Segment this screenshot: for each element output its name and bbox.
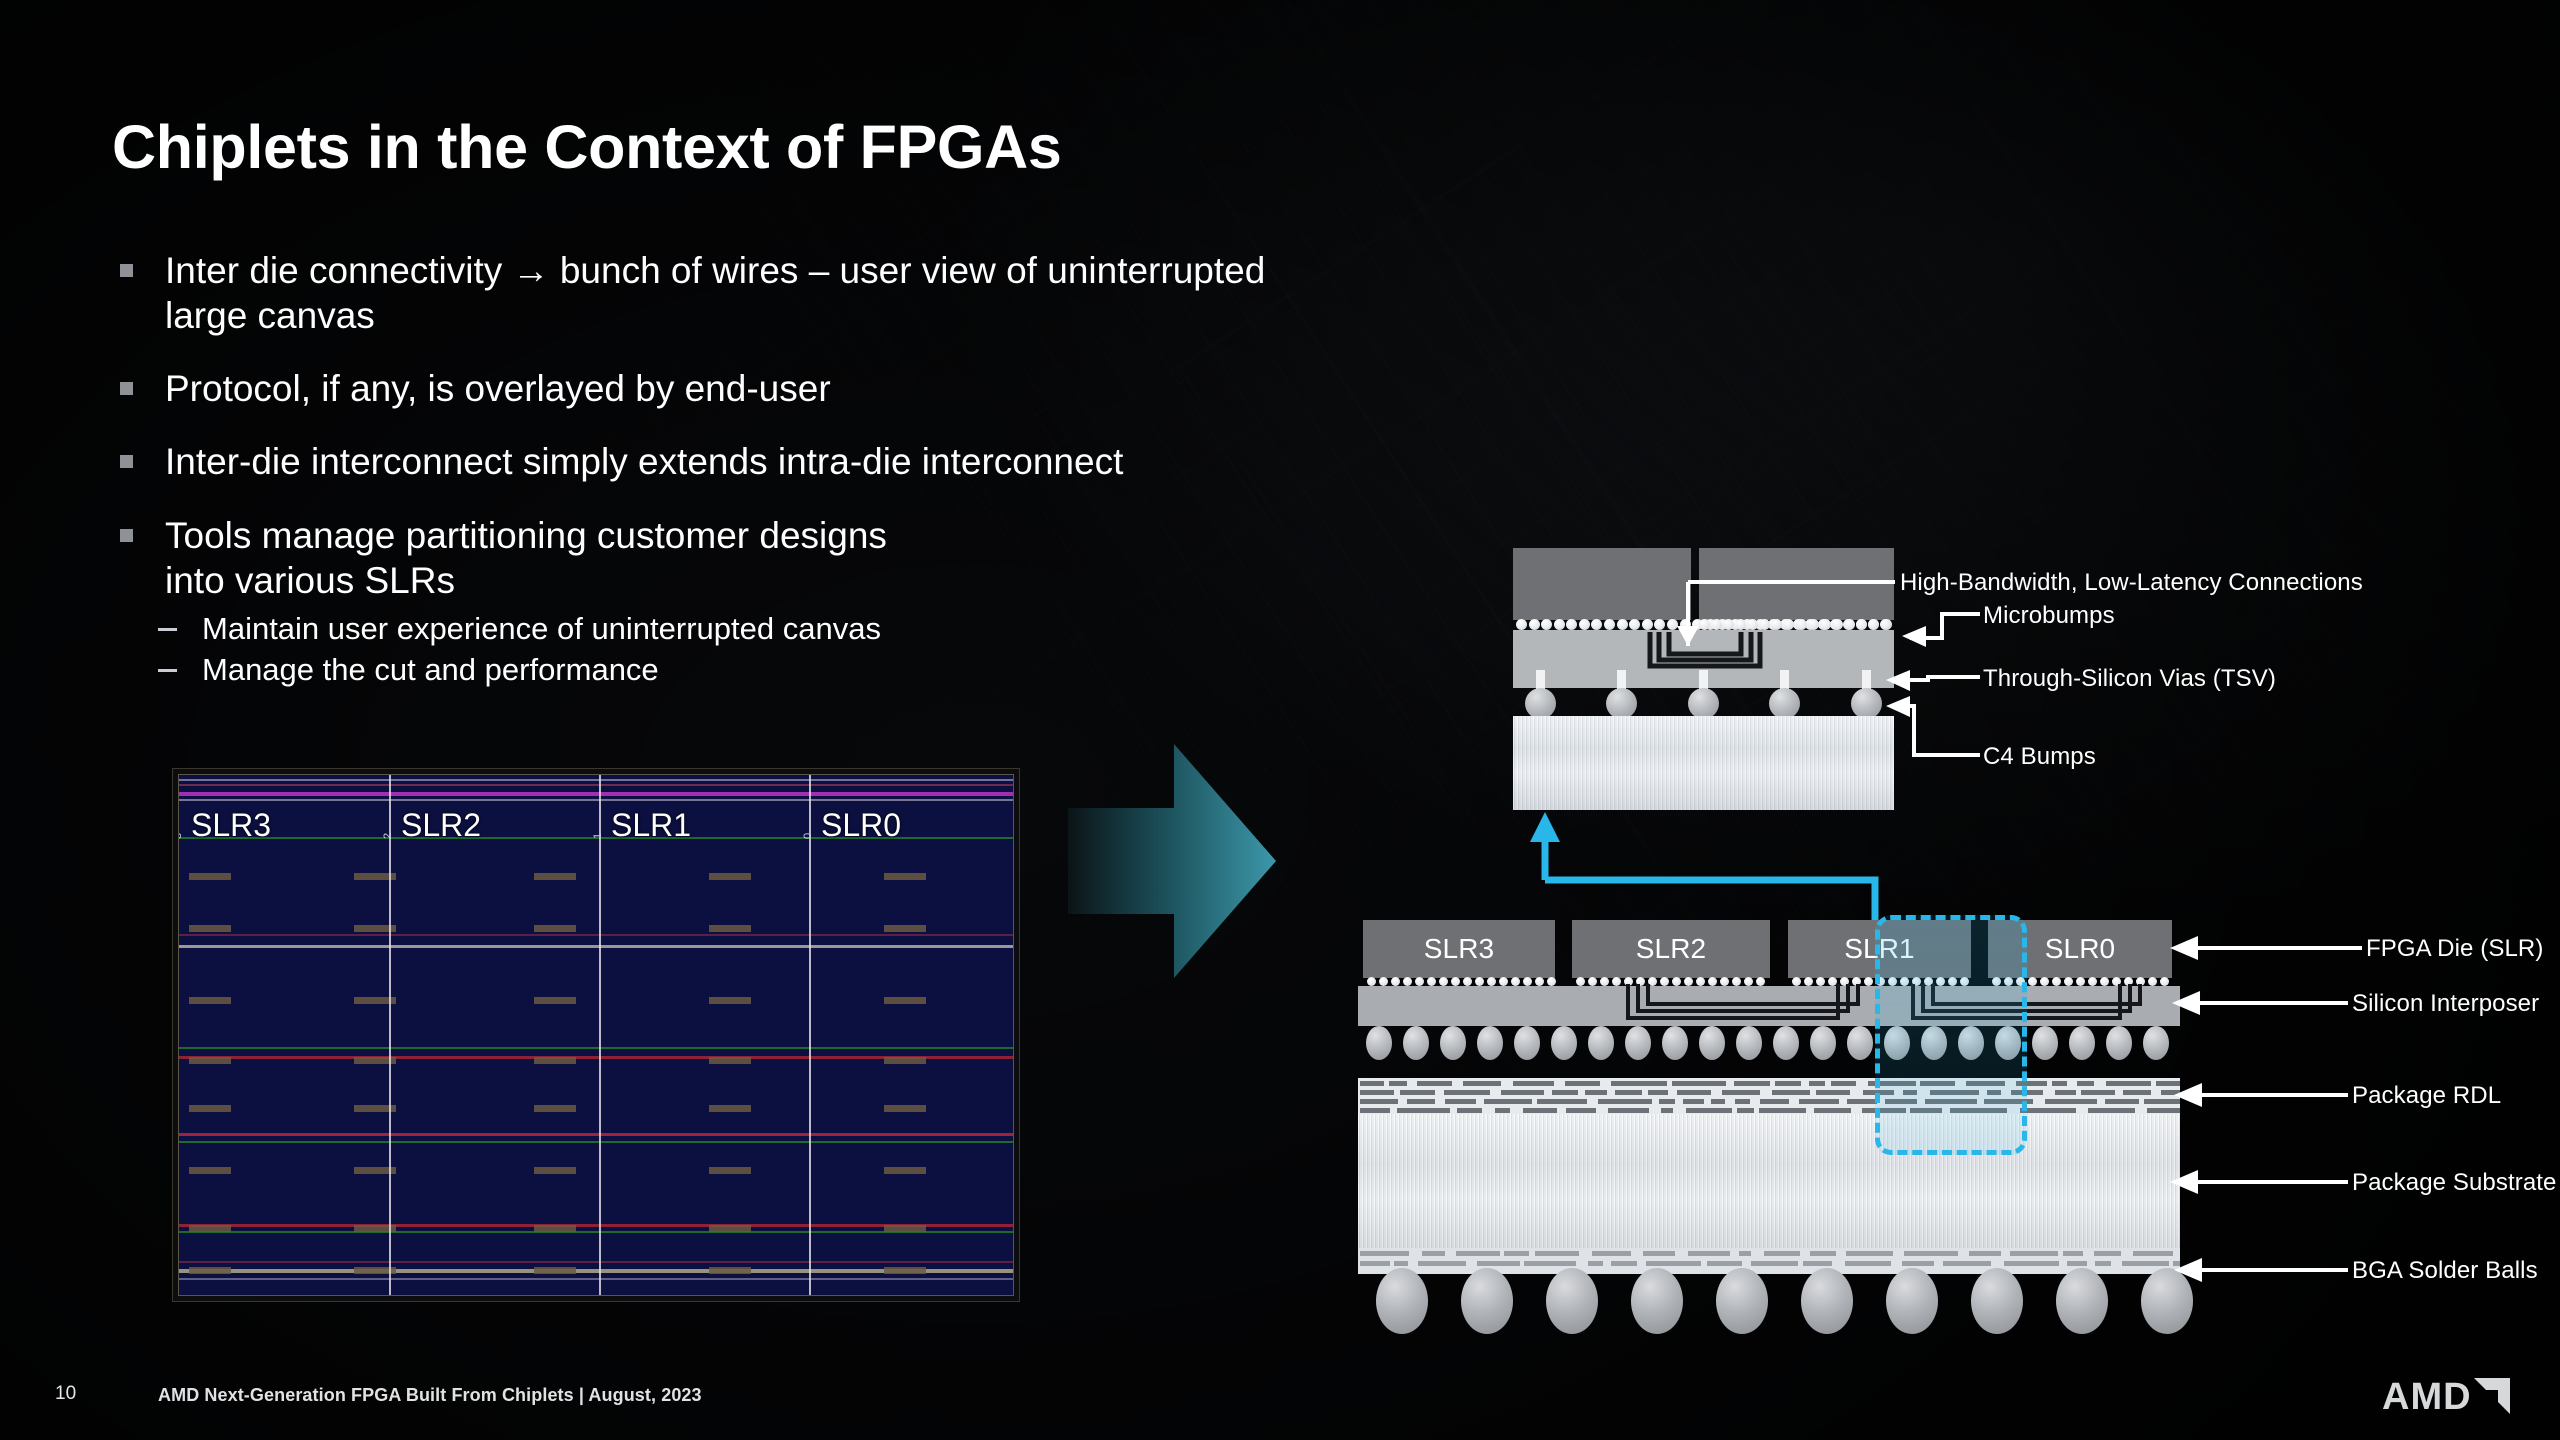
floorplan-resource-block bbox=[884, 925, 926, 932]
floorplan-band bbox=[179, 799, 1013, 801]
arrowhead bbox=[2170, 936, 2198, 960]
bullet-square-icon bbox=[120, 382, 133, 395]
floorplan-resource-block bbox=[534, 1105, 576, 1112]
floorplan-resource-block bbox=[534, 1267, 576, 1274]
floorplan-resource-block bbox=[534, 997, 576, 1004]
floorplan-resource-block bbox=[189, 1225, 231, 1232]
floorplan-band bbox=[179, 1133, 1013, 1136]
dash-icon bbox=[158, 669, 177, 672]
sub-bullet-item-1: Maintain user experience of uninterrupte… bbox=[110, 609, 1350, 649]
floorplan-resource-block bbox=[709, 873, 751, 880]
floorplan-band bbox=[179, 792, 1013, 796]
floorplan-resource-block bbox=[709, 997, 751, 1004]
floorplan-resource-block bbox=[709, 1267, 751, 1274]
floorplan-resource-block bbox=[189, 997, 231, 1004]
package-cross-section-diagram: High-Bandwidth, Low-Latency Connections … bbox=[1280, 520, 2560, 1300]
sub-bullet-text: Manage the cut and performance bbox=[202, 652, 659, 687]
floorplan-slr-divider bbox=[599, 775, 601, 1295]
floorplan-resource-block bbox=[534, 1057, 576, 1064]
floorplan-band bbox=[179, 945, 1013, 948]
floorplan-resource-block bbox=[884, 1167, 926, 1174]
floorplan-band bbox=[179, 934, 1013, 936]
floorplan-slr-divider bbox=[809, 775, 811, 1295]
bullet-item-3: Inter-die interconnect simply extends in… bbox=[110, 439, 1350, 484]
bullet-item-1: Inter die connectivity → bunch of wires … bbox=[110, 248, 1350, 338]
floorplan-resource-block bbox=[189, 1167, 231, 1174]
floorplan-label-slr2: SLR2 bbox=[401, 807, 481, 844]
floorplan-resource-block bbox=[709, 1057, 751, 1064]
floorplan-resource-block bbox=[189, 1267, 231, 1274]
label-silicon-interposer: Silicon Interposer bbox=[2352, 990, 2539, 1018]
footer-text: AMD Next-Generation FPGA Built From Chip… bbox=[158, 1385, 702, 1406]
slide-root: Chiplets in the Context of FPGAs Inter d… bbox=[0, 0, 2560, 1440]
floorplan-band bbox=[179, 1261, 1013, 1263]
label-package-rdl: Package RDL bbox=[2352, 1082, 2501, 1110]
floorplan-resource-block bbox=[709, 925, 751, 932]
floorplan-resource-block bbox=[534, 1225, 576, 1232]
floorplan-resource-block bbox=[534, 1167, 576, 1174]
floorplan-resource-block bbox=[189, 1105, 231, 1112]
arrowhead bbox=[2170, 1170, 2198, 1194]
floorplan-resource-block bbox=[884, 1267, 926, 1274]
floorplan-axis-label: 1 bbox=[592, 833, 604, 839]
arrowhead bbox=[2174, 1258, 2202, 1282]
floorplan-band bbox=[179, 1278, 1013, 1280]
bullet-item-2: Protocol, if any, is overlayed by end-us… bbox=[110, 366, 1350, 411]
floorplan-band bbox=[179, 1141, 1013, 1143]
arrowhead bbox=[2172, 991, 2200, 1015]
bullet-square-icon bbox=[120, 455, 133, 468]
floorplan-axis-label: 0 bbox=[802, 833, 814, 839]
amd-logo: AMD bbox=[2382, 1372, 2518, 1425]
svg-text:AMD: AMD bbox=[2382, 1376, 2472, 1418]
transition-arrow-icon bbox=[1046, 742, 1278, 980]
page-number: 10 bbox=[55, 1383, 76, 1405]
label-bga-solder-balls: BGA Solder Balls bbox=[2352, 1257, 2538, 1285]
floorplan-axis-label: 3 bbox=[178, 833, 184, 839]
sub-bullet-item-2: Manage the cut and performance bbox=[110, 650, 1350, 690]
floorplan-axis-label: 2 bbox=[382, 833, 394, 839]
floorplan-resource-block bbox=[189, 1057, 231, 1064]
floorplan-resource-block bbox=[884, 1057, 926, 1064]
floorplan-band bbox=[179, 1047, 1013, 1049]
floorplan-resource-block bbox=[189, 925, 231, 932]
floorplan-resource-block bbox=[534, 925, 576, 932]
floorplan-resource-block bbox=[884, 997, 926, 1004]
bullet-list: Inter die connectivity → bunch of wires … bbox=[110, 248, 1350, 692]
sub-bullet-text: Maintain user experience of uninterrupte… bbox=[202, 611, 881, 646]
floorplan-resource-block bbox=[189, 873, 231, 880]
bullet-text: Inter-die interconnect simply extends in… bbox=[165, 441, 1123, 482]
floorplan-resource-block bbox=[709, 1167, 751, 1174]
floorplan-label-slr0: SLR0 bbox=[821, 807, 901, 844]
label-package-substrate: Package Substrate bbox=[2352, 1169, 2557, 1197]
floorplan-slr-divider bbox=[389, 775, 391, 1295]
bullet-square-icon bbox=[120, 529, 133, 542]
bullet-text: Protocol, if any, is overlayed by end-us… bbox=[165, 368, 831, 409]
floorplan-resource-block bbox=[884, 873, 926, 880]
floorplan-resource-block bbox=[884, 1105, 926, 1112]
floorplan-resource-block bbox=[709, 1225, 751, 1232]
floorplan-canvas: SLR3 SLR2 SLR1 SLR0 3 2 1 0 bbox=[178, 774, 1014, 1296]
floorplan-resource-block bbox=[709, 1105, 751, 1112]
floorplan-resource-block bbox=[884, 1225, 926, 1232]
bullet-square-icon bbox=[120, 264, 133, 277]
floorplan-band bbox=[179, 784, 1013, 786]
floorplan-band bbox=[179, 779, 1013, 781]
bullet-text: Inter die connectivity → bunch of wires … bbox=[165, 250, 1265, 336]
floorplan-label-slr3: SLR3 bbox=[191, 807, 271, 844]
bullet-text: Tools manage partitioning customer desig… bbox=[165, 515, 887, 601]
floorplan-resource-block bbox=[534, 873, 576, 880]
arrowhead bbox=[2174, 1083, 2202, 1107]
page-title: Chiplets in the Context of FPGAs bbox=[112, 115, 1512, 179]
floorplan-label-slr1: SLR1 bbox=[611, 807, 691, 844]
fpga-floorplan-image: SLR3 SLR2 SLR1 SLR0 3 2 1 0 bbox=[172, 768, 1020, 1302]
bullet-item-4: Tools manage partitioning customer desig… bbox=[110, 513, 920, 603]
label-fpga-die: FPGA Die (SLR) bbox=[2366, 935, 2543, 963]
dash-icon bbox=[158, 628, 177, 631]
